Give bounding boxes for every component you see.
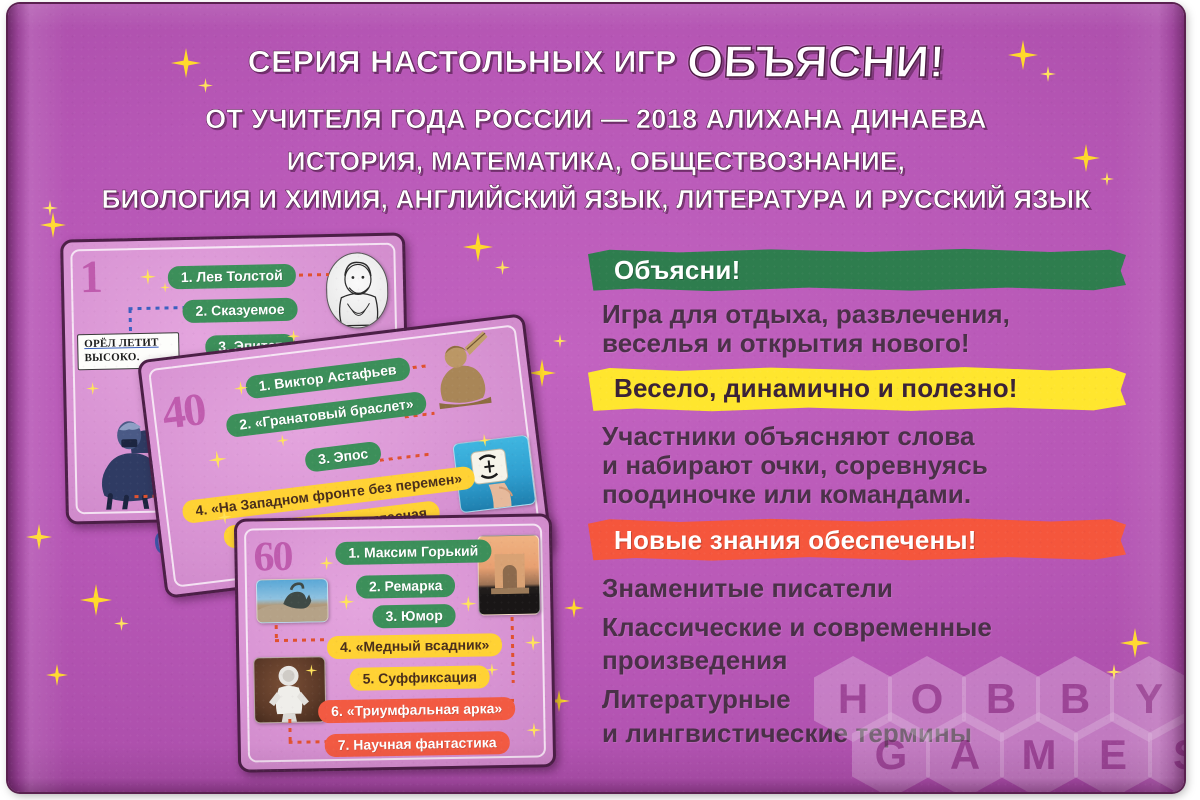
game-card-60[interactable]: 60 bbox=[234, 513, 556, 773]
card-entry-pill[interactable]: 2. Сказуемое bbox=[182, 298, 297, 323]
feature-headline-green: Объясни! bbox=[600, 248, 1160, 292]
connector-dotted-vertical bbox=[275, 625, 278, 641]
feature-body-3-line-4: Литературные bbox=[602, 683, 1160, 716]
sparkle-icon bbox=[26, 524, 52, 550]
sparkle-icon bbox=[140, 269, 156, 285]
sparkle-icon bbox=[460, 596, 476, 612]
tolstoy-line-art-icon bbox=[326, 253, 389, 329]
card-number: 40 bbox=[159, 382, 207, 440]
connector-dotted-horizontal bbox=[299, 273, 329, 277]
card-entry-pill[interactable]: 1. Максим Горький bbox=[335, 539, 491, 565]
card-entry-pill[interactable]: 1. Лев Толстой bbox=[168, 264, 296, 290]
card-number: 1 bbox=[79, 250, 101, 303]
feature-body-3-line-1: Знаменитые писатели bbox=[602, 572, 1160, 605]
sparkle-icon bbox=[495, 260, 510, 275]
game-box-back-panel: СЕРИЯ НАСТОЛЬНЫХ ИГР ОБЪЯСНИ! ОТ УЧИТЕЛЯ… bbox=[8, 4, 1184, 792]
sparkle-icon bbox=[463, 232, 493, 262]
feature-list: Объясни! Игра для отдыха, развлечения, в… bbox=[600, 248, 1160, 758]
connector-dotted-horizontal bbox=[128, 306, 188, 310]
feature-body-2-line-3: поодиночке или командами. bbox=[602, 480, 1160, 509]
sparkle-icon bbox=[80, 584, 112, 616]
author-line: ОТ УЧИТЕЛЯ ГОДА РОССИИ — 2018 АЛИХАНА ДИ… bbox=[8, 104, 1184, 135]
screenshot-root: СЕРИЯ НАСТОЛЬНЫХ ИГР ОБЪЯСНИ! ОТ УЧИТЕЛЯ… bbox=[0, 0, 1200, 800]
feature-body-3-line-2: Классические и современные bbox=[602, 611, 1160, 644]
feature-headline-yellow: Весело, динамично и полезно! bbox=[600, 366, 1160, 412]
feature-body-1-line-2: веселья и открытия нового! bbox=[602, 329, 1160, 358]
feature-headline-yellow-text: Весело, динамично и полезно! bbox=[614, 373, 1018, 403]
sparkle-icon bbox=[86, 382, 99, 395]
feature-body-1: Игра для отдыха, развлечения, веселья и … bbox=[602, 300, 1160, 358]
sparkle-icon bbox=[40, 212, 66, 238]
bard-sculpture-icon bbox=[421, 326, 502, 412]
card-entry-pill[interactable]: 7. Научная фантастика bbox=[325, 731, 510, 757]
connector-dotted-vertical bbox=[288, 719, 291, 743]
sparkle-icon bbox=[338, 594, 354, 610]
card-entry-pill[interactable]: 1. Виктор Астафьев bbox=[245, 357, 411, 400]
portrait-lev-tolstoy bbox=[325, 252, 389, 329]
feature-body-1-line-1: Игра для отдыха, развлечения, bbox=[602, 300, 1160, 329]
feature-body-2: Участники объясняют слова и набирают очк… bbox=[602, 422, 1160, 509]
astronaut-figure-photo bbox=[253, 656, 326, 723]
sparkle-icon bbox=[207, 450, 227, 470]
card-number: 60 bbox=[253, 533, 292, 582]
bronze-horseman-monument-photo bbox=[256, 578, 329, 623]
sparkle-icon bbox=[276, 434, 289, 447]
sparkle-icon bbox=[46, 664, 68, 686]
card-entry-pill[interactable]: 3. Эпос bbox=[304, 441, 382, 473]
series-label: СЕРИЯ НАСТОЛЬНЫХ ИГР bbox=[248, 44, 677, 80]
feature-headline-red: Новые знания обеспечены! bbox=[600, 518, 1160, 562]
subjects-line-2: БИОЛОГИЯ И ХИМИЯ, АНГЛИЙСКИЙ ЯЗЫК, ЛИТЕР… bbox=[8, 184, 1184, 215]
sparkle-icon bbox=[553, 334, 567, 348]
word-card-line-1: ОРЁЛ ЛЕТИТ bbox=[84, 337, 159, 351]
horseman-statue-icon bbox=[257, 579, 329, 623]
card-entry-pill[interactable]: 5. Суффиксация bbox=[349, 665, 490, 690]
connector-dotted-vertical bbox=[129, 309, 132, 331]
connector-dotted-horizontal bbox=[380, 452, 432, 461]
header-title-row: СЕРИЯ НАСТОЛЬНЫХ ИГР ОБЪЯСНИ! bbox=[8, 36, 1184, 88]
feature-headline-green-text: Объясни! bbox=[614, 255, 740, 285]
feature-body-3: Знаменитые писатели Классические и совре… bbox=[602, 572, 1160, 750]
sparkle-icon bbox=[319, 556, 333, 570]
sparkle-icon bbox=[114, 616, 129, 631]
subjects-line-1: ИСТОРИЯ, МАТЕМАТИКА, ОБЩЕСТВОЗНАНИЕ, bbox=[8, 146, 1184, 177]
sparkle-icon bbox=[564, 598, 584, 618]
card-entry-pill[interactable]: 4. «Медный всадник» bbox=[327, 633, 503, 659]
astronaut-icon bbox=[254, 657, 326, 723]
feature-body-3-line-3: произведения bbox=[602, 644, 1160, 677]
feature-body-2-line-1: Участники объясняют слова bbox=[602, 422, 1160, 451]
game-logo-title: ОБЪЯСНИ! bbox=[686, 36, 946, 88]
word-card-line-2: ВЫСОКО. bbox=[84, 351, 139, 364]
sparkle-icon bbox=[525, 634, 541, 650]
card-entry-pill[interactable]: 2. Ремарка bbox=[356, 574, 456, 599]
card-entry-pill[interactable]: 6. «Триумфальная арка» bbox=[318, 697, 515, 723]
sparkle-icon bbox=[526, 722, 541, 737]
card-entry-pill[interactable]: 3. Юмор bbox=[372, 604, 456, 628]
feature-headline-red-text: Новые знания обеспечены! bbox=[614, 525, 977, 555]
feature-body-3-line-5: и лингвистические термины bbox=[602, 717, 1160, 750]
game-card-60-wrapper: 60 bbox=[234, 513, 556, 773]
connector-dotted-vertical bbox=[511, 617, 515, 683]
connector-dotted-horizontal bbox=[275, 638, 329, 642]
feature-body-2-line-2: и набирают очки, соревнуясь bbox=[602, 451, 1160, 480]
